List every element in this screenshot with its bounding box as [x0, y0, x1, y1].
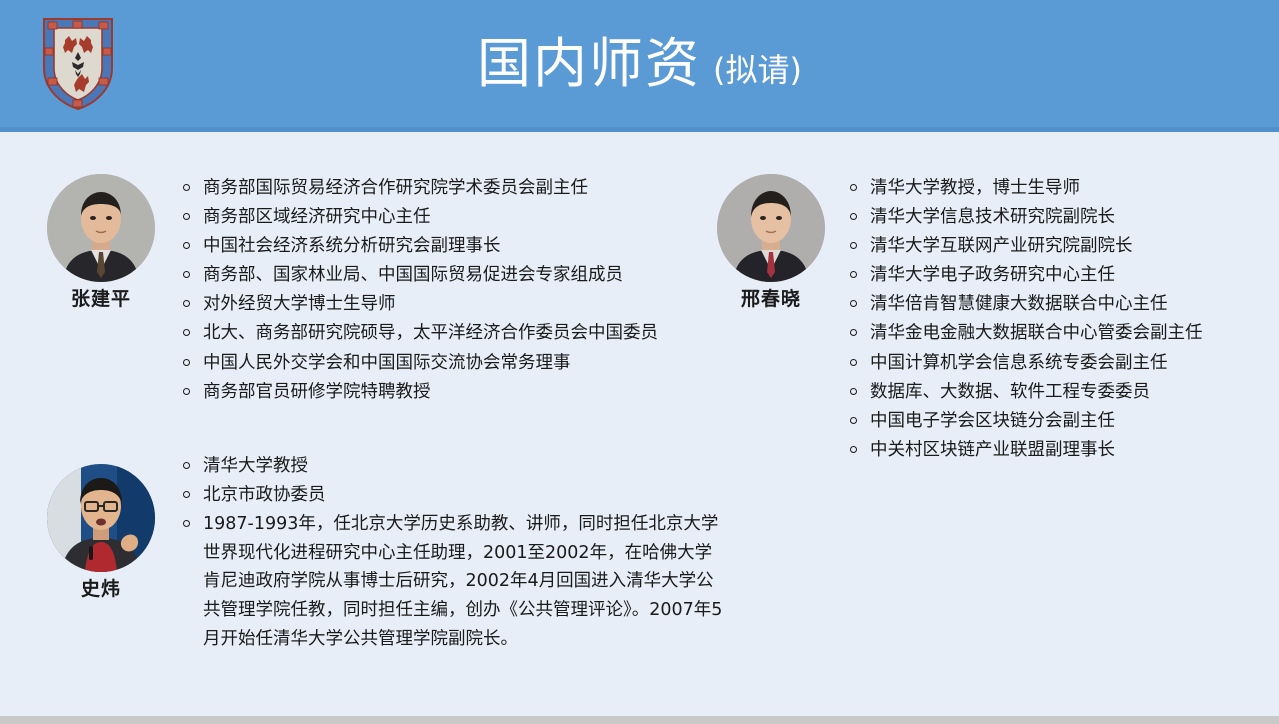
portrait-shi-wei — [47, 464, 155, 572]
list-item: 1987-1993年，任北京大学历史系助教、讲师，同时担任北京大学世界现代化进程… — [181, 510, 723, 653]
list-item: 中国电子学会区块链分会副主任 — [848, 407, 1266, 436]
list-item: 清华大学电子政务研究中心主任 — [848, 261, 1266, 290]
person-card-shi-wei: 史炜 清华大学教授 北京市政协委员 1987-1993年，任北京大学历史系助教、… — [36, 452, 716, 654]
list-item: 清华大学教授，博士生导师 — [848, 174, 1266, 203]
portrait-zhang-jianping — [47, 174, 155, 282]
list-item: 商务部区域经济研究中心主任 — [181, 203, 716, 232]
list-item: 中国计算机学会信息系统专委会副主任 — [848, 349, 1266, 378]
list-item: 数据库、大数据、软件工程专委委员 — [848, 378, 1266, 407]
list-item: 北大、商务部研究院硕导，太平洋经济合作委员会中国委员 — [181, 319, 716, 348]
person-photo-block: 史炜 — [36, 464, 166, 601]
person-name: 邢春晓 — [706, 288, 836, 311]
list-item: 商务部国际贸易经济合作研究院学术委员会副主任 — [181, 174, 716, 203]
list-item: 中关村区块链产业联盟副理事长 — [848, 436, 1266, 465]
slide-body: 张建平 商务部国际贸易经济合作研究院学术委员会副主任 商务部区域经济研究中心主任… — [0, 132, 1279, 706]
list-item: 清华大学信息技术研究院副院长 — [848, 203, 1266, 232]
list-item: 北京市政协委员 — [181, 481, 716, 510]
credential-list-shi-wei: 清华大学教授 北京市政协委员 1987-1993年，任北京大学历史系助教、讲师，… — [181, 452, 716, 653]
person-card-xing-chunxiao: 邢春晓 清华大学教授，博士生导师 清华大学信息技术研究院副院长 清华大学互联网产… — [706, 174, 1266, 465]
person-photo-block: 张建平 — [36, 174, 166, 311]
page-title: 国内师资 (拟请) — [0, 0, 1279, 127]
person-photo-block: 邢春晓 — [706, 174, 836, 311]
page-title-main: 国内师资 — [477, 37, 701, 91]
credential-list-xing-chunxiao: 清华大学教授，博士生导师 清华大学信息技术研究院副院长 清华大学互联网产业研究院… — [848, 174, 1266, 464]
list-item: 商务部、国家林业局、中国国际贸易促进会专家组成员 — [181, 261, 716, 290]
person-name: 张建平 — [36, 288, 166, 311]
list-item: 清华金电金融大数据联合中心管委会副主任 — [848, 319, 1266, 348]
list-item: 对外经贸大学博士生导师 — [181, 290, 716, 319]
page-title-sub: (拟请) — [713, 54, 802, 86]
person-name: 史炜 — [36, 578, 166, 601]
list-item: 中国人民外交学会和中国国际交流协会常务理事 — [181, 349, 716, 378]
list-item: 清华倍肯智慧健康大数据联合中心主任 — [848, 290, 1266, 319]
portrait-xing-chunxiao — [717, 174, 825, 282]
credential-list-zhang-jianping: 商务部国际贸易经济合作研究院学术委员会副主任 商务部区域经济研究中心主任 中国社… — [181, 174, 716, 406]
slide-root: 国内师资 (拟请) — [0, 0, 1279, 724]
person-card-zhang-jianping: 张建平 商务部国际贸易经济合作研究院学术委员会副主任 商务部区域经济研究中心主任… — [36, 174, 716, 407]
list-item: 清华大学教授 — [181, 452, 716, 481]
list-item: 商务部官员研修学院特聘教授 — [181, 378, 716, 407]
list-item: 清华大学互联网产业研究院副院长 — [848, 232, 1266, 261]
list-item: 中国社会经济系统分析研究会副理事长 — [181, 232, 716, 261]
footer-bar — [0, 716, 1279, 724]
